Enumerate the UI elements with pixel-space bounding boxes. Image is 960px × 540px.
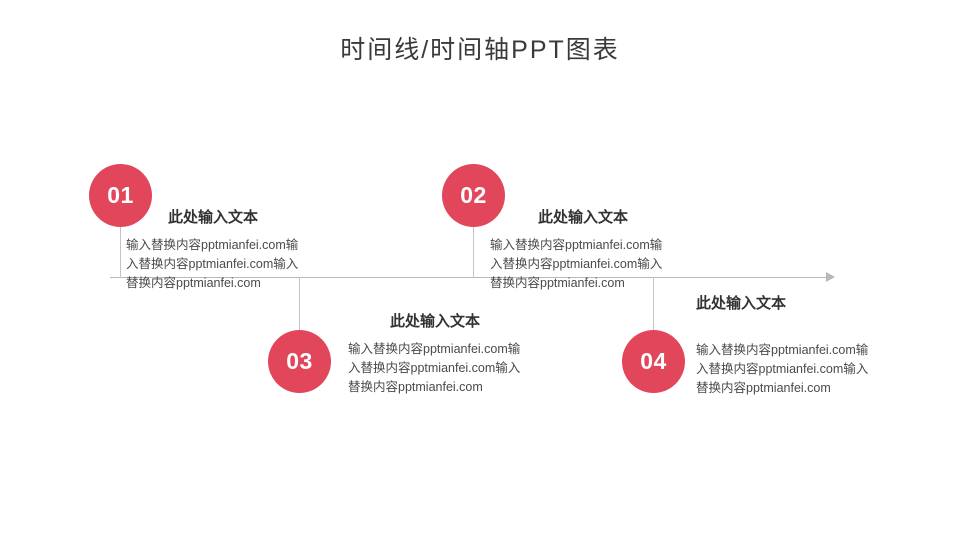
timeline-body-02: 输入替换内容pptmianfei.com输入替换内容pptmianfei.com…	[490, 236, 672, 293]
slide-canvas: 时间线/时间轴PPT图表 01 此处输入文本 输入替换内容pptmianfei.…	[0, 0, 960, 540]
timeline-text-block-01: 此处输入文本 输入替换内容pptmianfei.com输入替换内容pptmian…	[126, 206, 308, 293]
timeline-heading-04: 此处输入文本	[696, 292, 878, 313]
timeline-body-04: 输入替换内容pptmianfei.com输入替换内容pptmianfei.com…	[696, 341, 878, 398]
timeline-text-block-03: 此处输入文本 输入替换内容pptmianfei.com输入替换内容pptmian…	[348, 310, 530, 397]
timeline-body-01: 输入替换内容pptmianfei.com输入替换内容pptmianfei.com…	[126, 236, 308, 293]
connector-stem-02	[473, 222, 474, 278]
timeline-node-04[interactable]: 04	[622, 330, 685, 393]
timeline-text-block-02: 此处输入文本 输入替换内容pptmianfei.com输入替换内容pptmian…	[490, 206, 672, 293]
timeline-node-03[interactable]: 03	[268, 330, 331, 393]
timeline-heading-03: 此处输入文本	[390, 310, 530, 331]
timeline-body-03: 输入替换内容pptmianfei.com输入替换内容pptmianfei.com…	[348, 340, 530, 397]
timeline-arrow-icon	[826, 272, 835, 282]
timeline-text-block-04: 此处输入文本 输入替换内容pptmianfei.com输入替换内容pptmian…	[696, 292, 878, 398]
timeline-heading-01: 此处输入文本	[168, 206, 308, 227]
page-title: 时间线/时间轴PPT图表	[0, 30, 960, 66]
connector-stem-01	[120, 222, 121, 278]
timeline-heading-02: 此处输入文本	[538, 206, 672, 227]
